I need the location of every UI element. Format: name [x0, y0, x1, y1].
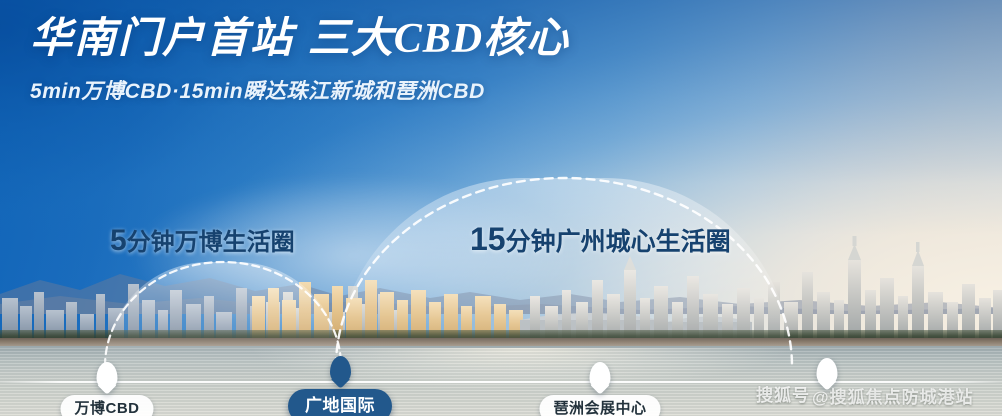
- marker-label[interactable]: 琶洲会展中心: [539, 395, 660, 416]
- marker-pazhou-expo-center[interactable]: 琶洲会展中心: [539, 362, 660, 416]
- radius-arcs: 5分钟万博生活圈 15分钟广州城心生活圈: [0, 0, 1002, 416]
- marker-wanbo-cbd[interactable]: 万博CBD: [61, 362, 154, 416]
- arc-label-5min: 5分钟万博生活圈: [110, 222, 295, 258]
- map-pin-icon: [97, 362, 118, 390]
- arc-number-15: 15: [470, 221, 506, 257]
- marker-unlabeled-right[interactable]: [817, 358, 838, 386]
- arc-text-5: 分钟万博生活圈: [127, 229, 295, 256]
- arc-number-5: 5: [110, 224, 127, 257]
- marker-label[interactable]: 万博CBD: [61, 395, 154, 416]
- marker-guangdi-international[interactable]: 广地国际: [288, 356, 392, 416]
- arc-strokes: [0, 0, 1002, 416]
- map-pin-icon: [589, 362, 610, 390]
- marker-label[interactable]: 广地国际: [288, 389, 392, 416]
- map-pin-icon: [817, 358, 838, 386]
- arc-text-15: 分钟广州城心生活圈: [506, 228, 731, 256]
- map-pin-icon: [330, 356, 351, 384]
- arc-label-15min: 15分钟广州城心生活圈: [470, 221, 731, 258]
- promo-banner: 5分钟万博生活圈 15分钟广州城心生活圈 万博CBD 广地国际 琶洲会展中心 华…: [0, 0, 1002, 416]
